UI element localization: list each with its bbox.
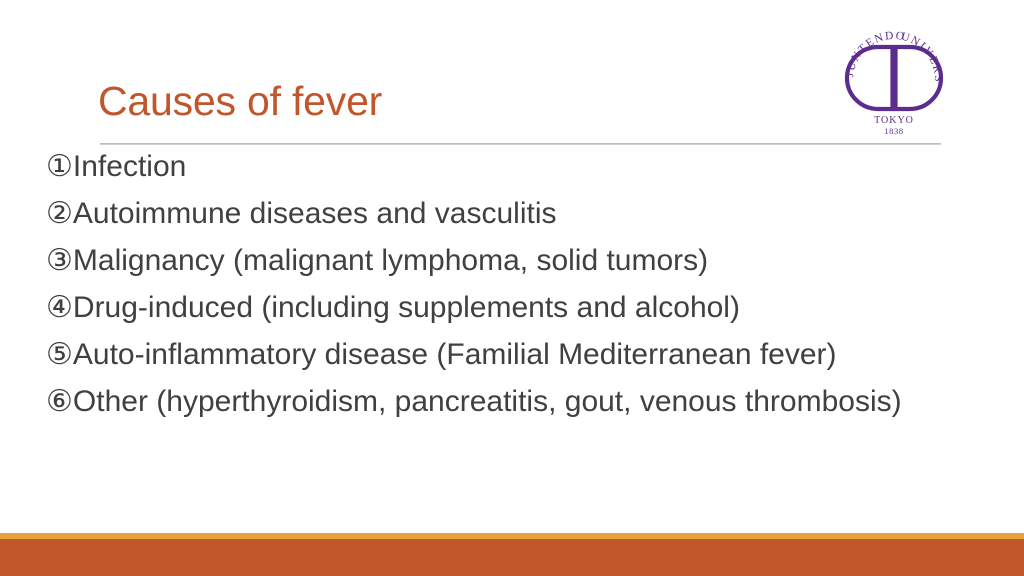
list-item-number: ④ — [46, 291, 73, 324]
list-item-label: Other (hyperthyroidism, pancreatitis, go… — [73, 385, 902, 418]
list-item-label: Autoimmune diseases and vasculitis — [73, 197, 557, 230]
juntendo-university-logo: JUNTENDO UNIVERSITY x TOKYO 1838 — [838, 22, 950, 134]
list-item: ⑥Other (hyperthyroidism, pancreatitis, g… — [46, 387, 976, 417]
content-list: ①Infection ②Autoimmune diseases and vasc… — [46, 152, 976, 417]
list-item-number: ⑥ — [46, 385, 73, 418]
list-item-number: ① — [46, 150, 73, 183]
slide: JUNTENDO UNIVERSITY x TOKYO 1838 Causes … — [0, 0, 1024, 576]
list-item-label: Drug-induced (including supplements and … — [73, 291, 740, 324]
list-item-number: ③ — [46, 244, 73, 277]
list-item-number: ⑤ — [46, 338, 73, 371]
footer-accent-band — [0, 539, 1024, 576]
list-item-number: ② — [46, 197, 73, 230]
list-item-label: Malignancy (malignant lymphoma, solid tu… — [73, 244, 708, 277]
title-divider — [100, 143, 941, 145]
svg-text:1838: 1838 — [884, 126, 903, 134]
list-item-label: Auto-inflammatory disease (Familial Medi… — [73, 338, 837, 371]
list-item: ①Infection — [46, 152, 976, 182]
list-item: ③Malignancy (malignant lymphoma, solid t… — [46, 246, 976, 276]
list-item: ④Drug-induced (including supplements and… — [46, 293, 976, 323]
svg-text:TOKYO: TOKYO — [874, 115, 914, 126]
page-title: Causes of fever — [98, 80, 382, 123]
list-item: ②Autoimmune diseases and vasculitis — [46, 199, 976, 229]
list-item: ⑤Auto-inflammatory disease (Familial Med… — [46, 340, 976, 370]
list-item-label: Infection — [73, 150, 186, 183]
